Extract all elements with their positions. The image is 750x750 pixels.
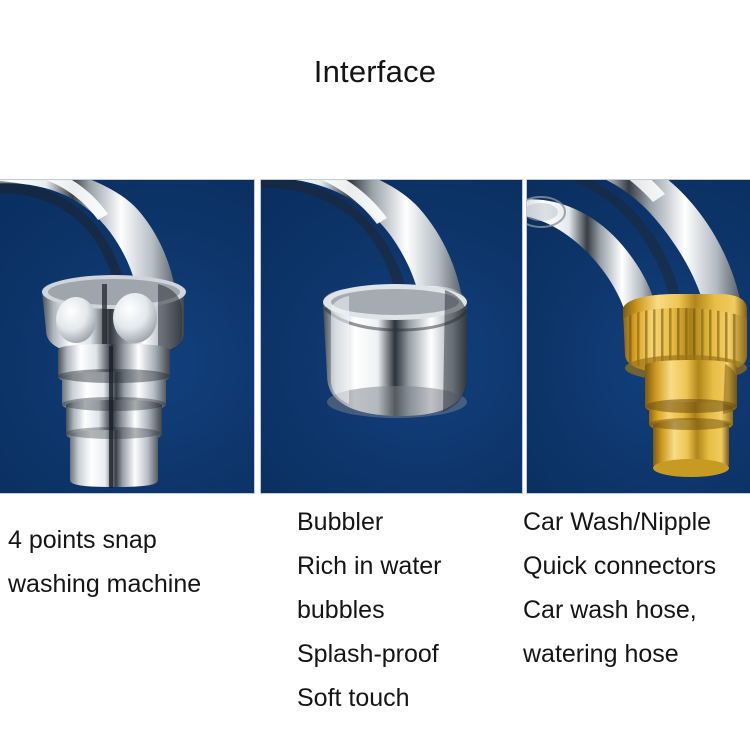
caption-line: Bubbler xyxy=(297,500,442,544)
caption-line: washing machine xyxy=(8,562,201,606)
panel-row xyxy=(0,180,750,493)
caption-line: Car wash hose, xyxy=(523,588,716,632)
caption-line: 4 points snap xyxy=(8,518,201,562)
faucet-bubbler-image xyxy=(261,180,522,493)
caption-bubbler: Bubbler Rich in water bubbles Splash-pro… xyxy=(297,500,442,720)
caption-4-point-snap: 4 points snap washing machine xyxy=(8,518,201,606)
caption-line: bubbles xyxy=(297,588,442,632)
faucet-snap-coupler-image xyxy=(0,180,254,493)
product-panel-car-wash-nipple[interactable] xyxy=(527,180,750,493)
caption-line: Quick connectors xyxy=(523,544,716,588)
caption-car-wash-nipple: Car Wash/Nipple Quick connectors Car was… xyxy=(523,500,716,676)
caption-line: watering hose xyxy=(523,632,716,676)
caption-line: Splash-proof xyxy=(297,632,442,676)
caption-line: Soft touch xyxy=(297,676,442,720)
caption-line: Car Wash/Nipple xyxy=(523,500,716,544)
product-panel-4-point-snap[interactable] xyxy=(0,180,254,493)
faucet-brass-nipple-image xyxy=(527,180,750,493)
product-panel-bubbler[interactable] xyxy=(261,180,522,493)
page-title: Interface xyxy=(0,52,750,92)
caption-line: Rich in water xyxy=(297,544,442,588)
product-infographic: Interface xyxy=(0,0,750,750)
